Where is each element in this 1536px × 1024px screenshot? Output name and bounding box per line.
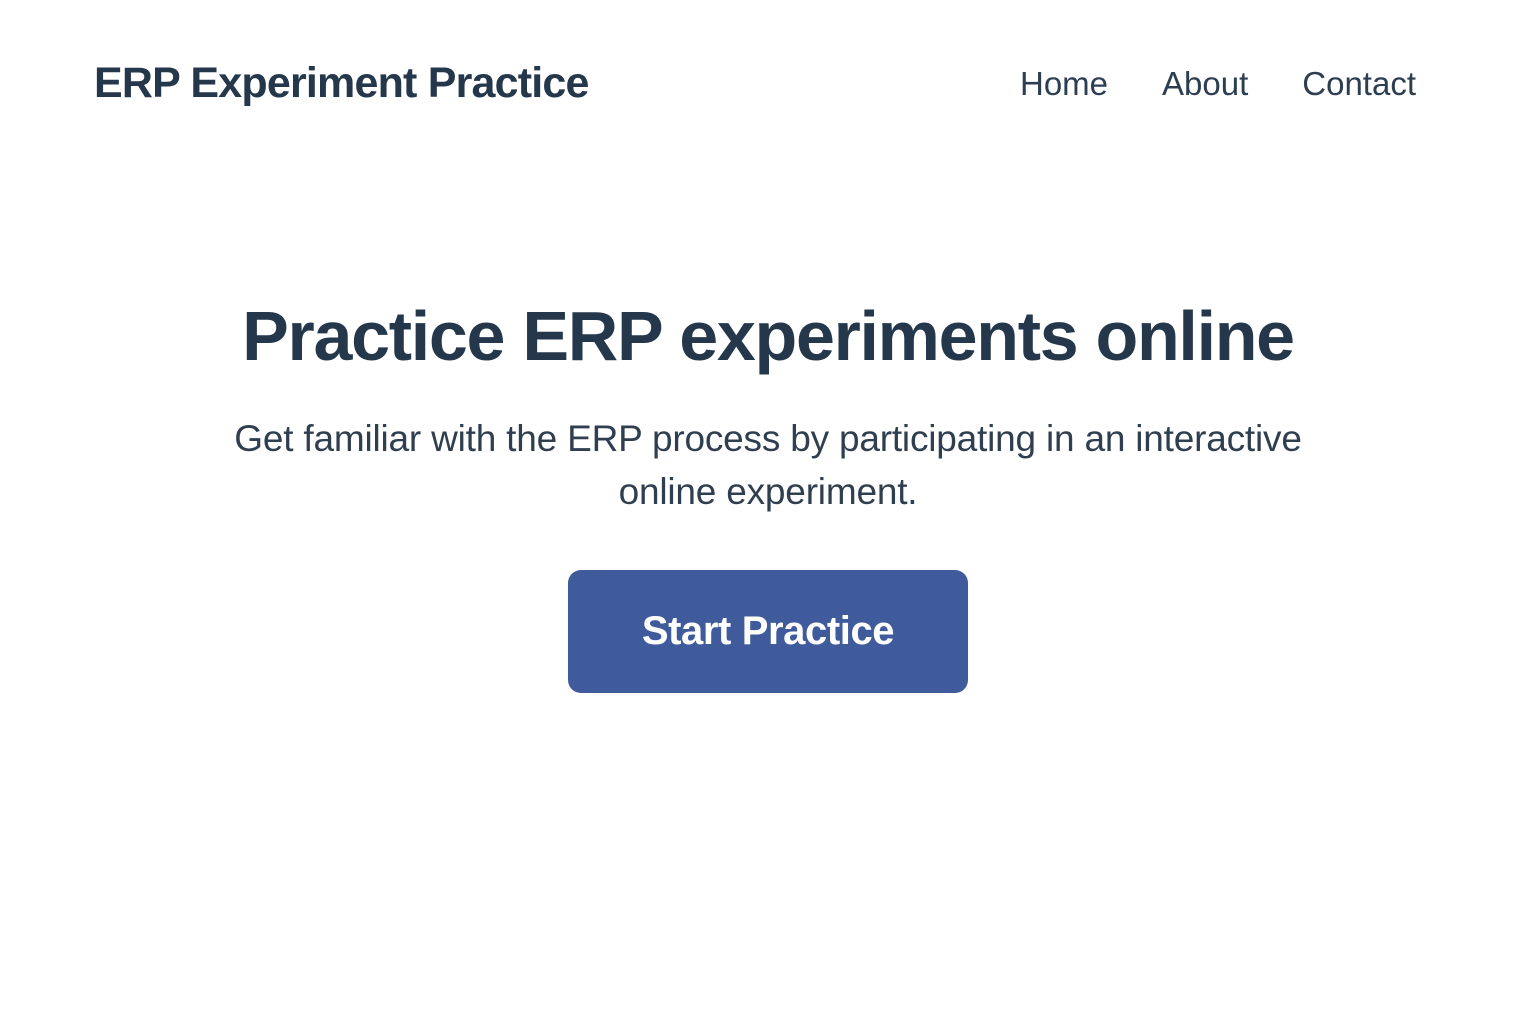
nav-link-about[interactable]: About — [1162, 67, 1248, 100]
nav-link-home[interactable]: Home — [1020, 67, 1108, 100]
site-header: ERP Experiment Practice Home About Conta… — [0, 0, 1536, 170]
hero-heading: Practice ERP experiments online — [213, 170, 1323, 375]
nav-link-contact[interactable]: Contact — [1302, 67, 1416, 100]
hero-subheading: Get familiar with the ERP process by par… — [223, 375, 1313, 518]
start-practice-button[interactable]: Start Practice — [568, 570, 968, 693]
brand-title: ERP Experiment Practice — [94, 62, 589, 105]
page-root: ERP Experiment Practice Home About Conta… — [0, 0, 1536, 1024]
main-navigation: Home About Contact — [1020, 67, 1416, 100]
hero-cta-container: Start Practice — [568, 518, 968, 693]
hero-section: Practice ERP experiments online Get fami… — [0, 170, 1536, 693]
